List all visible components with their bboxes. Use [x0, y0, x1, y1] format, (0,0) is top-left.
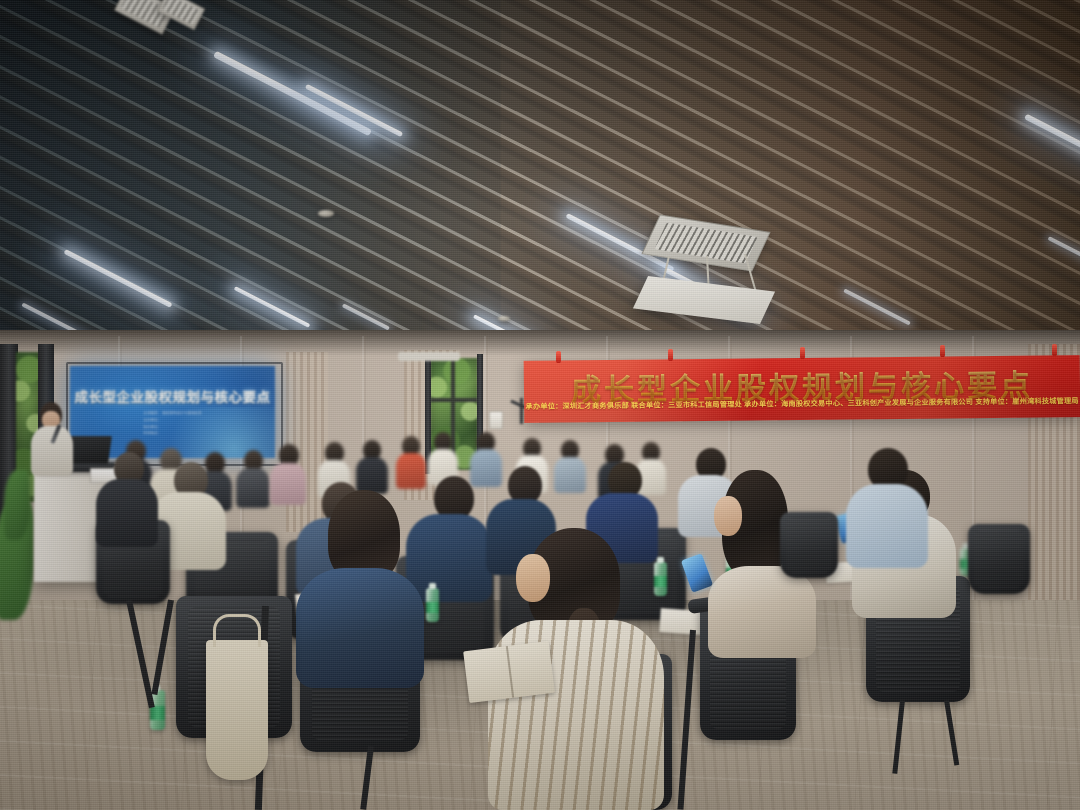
ceiling-projector	[398, 352, 460, 361]
attendee-navy	[296, 490, 424, 680]
tote-bag[interactable]	[206, 640, 268, 780]
banner-clip	[940, 345, 945, 357]
event-banner: 成长型企业股权规划与核心要点 承办单位：深圳汇才商务俱乐部 联合单位：三亚市科工…	[524, 355, 1080, 423]
bottle-label	[150, 706, 165, 720]
chair-mesh	[786, 517, 832, 572]
attendee-torso	[554, 457, 586, 493]
window-mullion	[430, 398, 478, 402]
office-chair[interactable]	[968, 524, 1030, 594]
attendee-torso	[96, 479, 158, 547]
projector-mount-arm	[520, 398, 523, 424]
banner-clip	[668, 349, 673, 361]
attendee	[96, 452, 158, 542]
attendee	[428, 432, 458, 482]
banner-clip	[1052, 344, 1057, 356]
attendee	[236, 450, 270, 504]
bag-strap	[213, 614, 260, 647]
potted-plant	[4, 470, 30, 540]
attendee-face	[714, 496, 742, 536]
smoke-detector	[498, 316, 510, 321]
banner-clip	[800, 347, 805, 359]
wall-switch[interactable]	[489, 411, 503, 429]
seminar-room-photo: 成长型企业股权规划与核心要点 主讲嘉宾： 股权架构设计与落地实务 主办单位： 协…	[0, 0, 1080, 810]
bottle-label	[426, 602, 439, 614]
attendee-torso	[846, 484, 928, 568]
attendee-face	[516, 554, 550, 602]
smoke-detector	[318, 210, 334, 217]
attendee-light-blue	[846, 448, 928, 560]
attendee-torso	[296, 568, 424, 688]
attendee	[554, 440, 586, 490]
attendee-torso	[236, 468, 270, 508]
office-chair[interactable]	[780, 512, 838, 578]
open-notebook[interactable]	[463, 641, 555, 703]
attendee-torso	[708, 566, 816, 658]
presenter-torso	[31, 426, 73, 476]
chair-mesh	[974, 530, 1024, 589]
water-bottle[interactable]	[426, 588, 439, 622]
banner-clip	[556, 351, 561, 363]
